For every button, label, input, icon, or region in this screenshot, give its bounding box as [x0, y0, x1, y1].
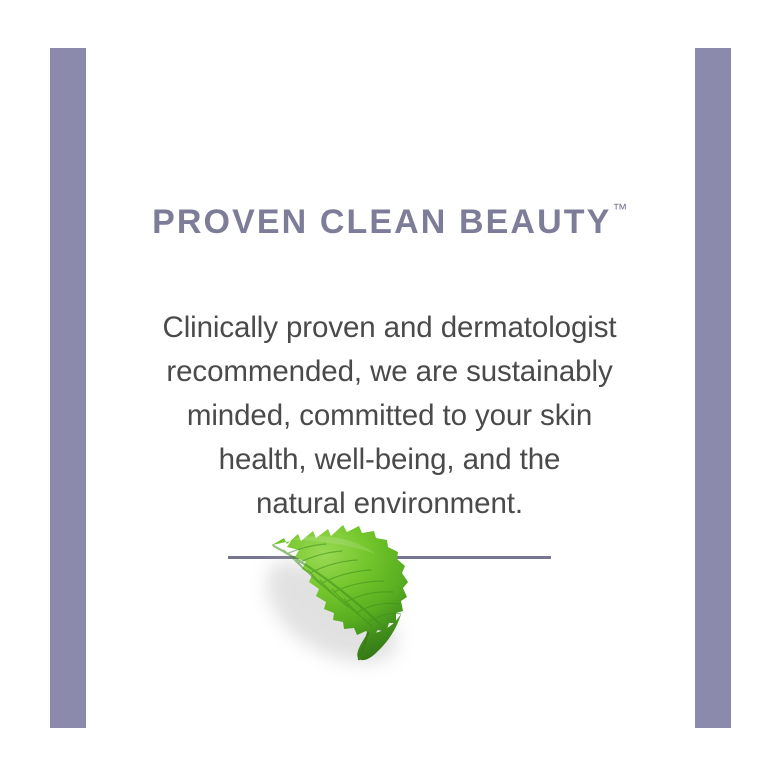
- page-title: PROVEN CLEAN BEAUTY™: [90, 203, 689, 242]
- description-line: Clinically proven and dermatologist: [90, 306, 689, 350]
- leaf-icon: [260, 500, 460, 680]
- description-line: health, well-being, and the: [90, 438, 689, 482]
- left-accent-bar: [50, 48, 86, 728]
- proven-clean-beauty-banner: PROVEN CLEAN BEAUTY™ Clinically proven a…: [0, 0, 779, 780]
- description-line: minded, committed to your skin: [90, 394, 689, 438]
- headline-text: PROVEN CLEAN BEAUTY: [152, 203, 611, 241]
- banner-description: Clinically proven and dermatologist reco…: [90, 306, 689, 526]
- trademark-symbol: ™: [612, 201, 628, 218]
- banner-content: PROVEN CLEAN BEAUTY™ Clinically proven a…: [90, 0, 689, 780]
- description-line: recommended, we are sustainably: [90, 350, 689, 394]
- right-accent-bar: [695, 48, 731, 728]
- leaf-divider: [90, 500, 689, 680]
